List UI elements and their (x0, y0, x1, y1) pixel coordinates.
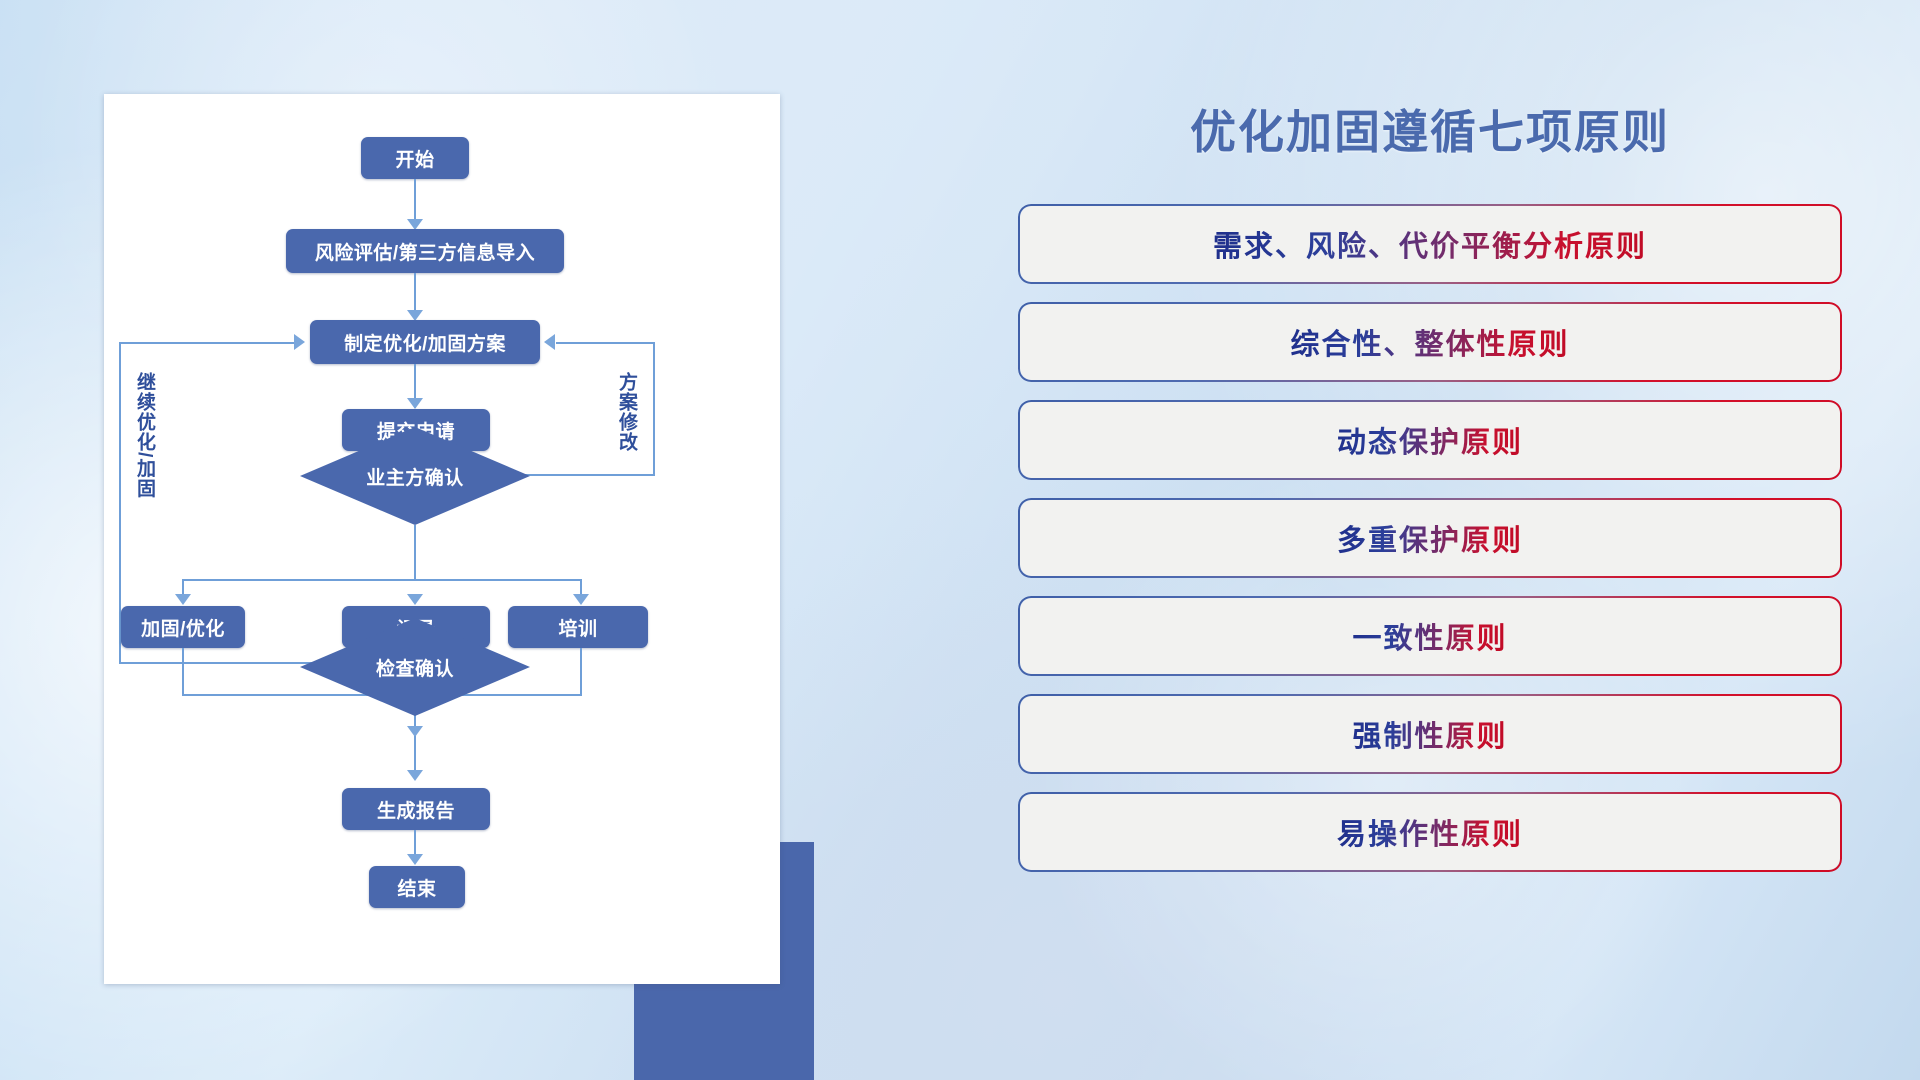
edge-reinforce-down (182, 648, 184, 696)
edge-label-right-loop: 方案修改 (616, 372, 636, 452)
flowchart-card: 开始 风险评估/第三方信息导入 制定优化/加固方案 继续优化/加固 方案修改 提… (104, 94, 780, 984)
flow-node-owner-confirm[interactable]: 业主方确认 (300, 427, 530, 525)
principle-label: 需求、风险、代价平衡分析原则 (1213, 223, 1647, 265)
arrowhead-left-plan (544, 334, 555, 350)
flow-node-risk-assessment[interactable]: 风险评估/第三方信息导入 (286, 229, 564, 273)
principle-card-5[interactable]: 一致性原则 (1020, 598, 1840, 674)
principle-label: 强制性原则 (1352, 713, 1507, 755)
edge-right-loop-top (556, 342, 655, 344)
principle-label: 综合性、整体性原则 (1290, 321, 1569, 363)
edge-confirm-split (182, 579, 582, 581)
principle-card-3[interactable]: 动态保护原则 (1020, 402, 1840, 478)
edge-right-loop-vertical (653, 342, 655, 476)
flow-node-start[interactable]: 开始 (361, 137, 469, 179)
edge-label-left-loop: 继续优化/加固 (134, 372, 154, 498)
arrowhead-down-3 (407, 398, 423, 409)
principle-card-6[interactable]: 强制性原则 (1020, 696, 1840, 772)
flowchart-panel: 开始 风险评估/第三方信息导入 制定优化/加固方案 继续优化/加固 方案修改 提… (104, 94, 784, 994)
flow-node-check-confirm-label: 检查确认 (300, 618, 530, 716)
principle-card-2[interactable]: 综合性、整体性原则 (1020, 304, 1840, 380)
principle-card-1[interactable]: 需求、风险、代价平衡分析原则 (1020, 206, 1840, 282)
arrowhead-down-7 (407, 854, 423, 865)
flow-node-report[interactable]: 生成报告 (342, 788, 490, 830)
principles-panel: 优化加固遵循七项原则 需求、风险、代价平衡分析原则 综合性、整体性原则 动态保护… (1020, 96, 1840, 1016)
page-title: 优化加固遵循七项原则 (1020, 96, 1840, 162)
principle-label: 易操作性原则 (1337, 811, 1523, 853)
principle-label: 多重保护原则 (1337, 517, 1523, 559)
flow-node-check-confirm[interactable]: 检查确认 (300, 618, 530, 716)
edge-left-loop-top (119, 342, 297, 344)
edge-confirm-down (414, 525, 416, 581)
principle-card-7[interactable]: 易操作性原则 (1020, 794, 1840, 870)
edge-training-down (580, 648, 582, 696)
principle-label: 动态保护原则 (1337, 419, 1523, 461)
flow-node-reinforce[interactable]: 加固/优化 (121, 606, 245, 648)
flow-node-plan[interactable]: 制定优化/加固方案 (310, 320, 540, 364)
flow-node-owner-confirm-label: 业主方确认 (300, 427, 530, 525)
principle-label: 一致性原则 (1352, 615, 1507, 657)
principle-card-4[interactable]: 多重保护原则 (1020, 500, 1840, 576)
flow-node-end[interactable]: 结束 (369, 866, 465, 908)
arrowhead-right-plan (294, 334, 305, 350)
arrowhead-down-mid-branch (407, 594, 423, 605)
arrowhead-down-6 (407, 770, 423, 781)
arrowhead-down-right-branch (573, 594, 589, 605)
arrowhead-down-left-branch (175, 594, 191, 605)
